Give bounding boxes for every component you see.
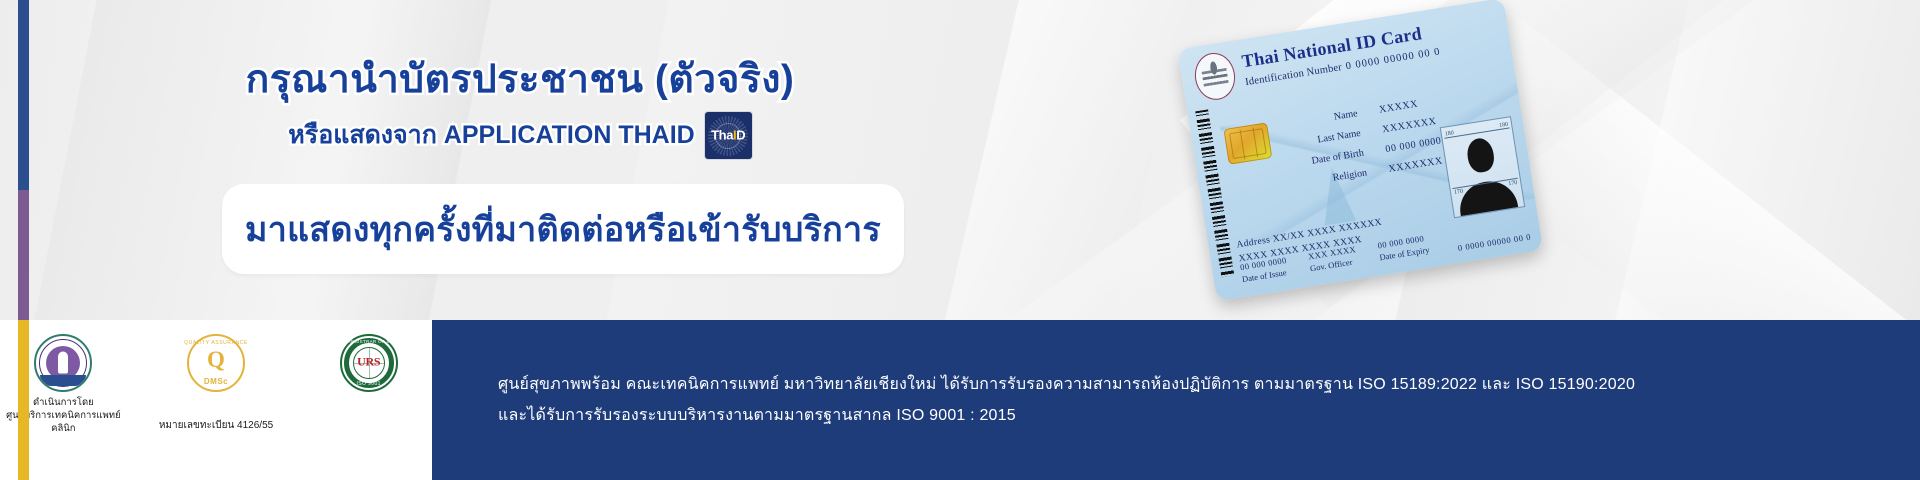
photo-ruler-bottom-right: 170 [1508,180,1518,187]
accent-stripe-blue [18,0,29,190]
promo-banner: กรุณานำบัตรประชาชน (ตัวจริง) หรือแสดงจาก… [0,0,1920,480]
card-serial-number: 0 0000 00000 00 0 [1457,231,1532,252]
page-title: กรุณานำบัตรประชาชน (ตัวจริง) [200,58,840,103]
headline-secondary-row: หรือแสดงจาก APPLICATION THAID ThaID [200,112,840,159]
thai-id-card: Thai National ID Card Identification Num… [1177,0,1544,311]
photo-ruler-bottom-left: 170 [1454,189,1464,196]
medical-technology-emblem-icon [34,334,92,392]
headline-subtitle: หรือแสดงจาก APPLICATION THAID [288,115,694,155]
dmsc-quality-emblem-icon: QUALITY ASSURANCE Q DMSc [187,334,245,392]
logo-item-urs: UNITED REGISTRAR OF SYSTEMS URS ISO 9001 [305,334,432,392]
urs-iso9001-emblem-icon: UNITED REGISTRAR OF SYSTEMS URS ISO 9001 [340,334,398,392]
logo-item-medical-technology: ดำเนินการโดย ศูนย์บริการเทคนิคการแพทย์คล… [0,334,127,435]
certification-line-2: และได้รับการรับรองระบบบริหารงานตามมาตรฐา… [498,403,1920,428]
urs-bottom-text: ISO 9001 [357,381,381,387]
thaid-app-icon[interactable]: ThaID [705,112,752,159]
dmsc-sub-text: DMSc [204,377,228,386]
logo-caption-dmsc: หมายเลขทะเบียน 4126/55 [153,418,280,433]
footer-bar: ดำเนินการโดย ศูนย์บริการเทคนิคการแพทย์คล… [0,320,1920,480]
accent-stripe-purple [18,190,29,322]
callout-box: มาแสดงทุกครั้งที่มาติดต่อหรือเข้ารับบริก… [222,184,904,274]
headline-block: กรุณานำบัตรประชาชน (ตัวจริง) หรือแสดงจาก… [200,58,840,159]
certification-panel: ศูนย์สุขภาพพร้อม คณะเทคนิคการแพทย์ มหาวิ… [432,320,1920,480]
card-portrait-photo: 180 180 170 170 [1440,116,1526,218]
urs-letters: URS [357,354,380,369]
smartcard-chip-icon [1223,122,1272,164]
footer-logos-panel: ดำเนินการโดย ศูนย์บริการเทคนิคการแพทย์คล… [0,320,432,480]
dmsc-top-text: QUALITY ASSURANCE [184,340,248,346]
certification-line-1: ศูนย์สุขภาพพร้อม คณะเทคนิคการแพทย์ มหาวิ… [498,372,1920,397]
garuda-emblem-icon [1192,50,1239,103]
logo-caption-medical-technology: ดำเนินการโดย ศูนย์บริการเทคนิคการแพทย์คล… [0,396,127,435]
card-date-of-expiry: 00 000 0000 Date of Expiry [1377,232,1431,264]
dmsc-q-letter: Q [207,347,225,373]
urs-top-text: UNITED REGISTRAR OF SYSTEMS [327,339,410,344]
logo-item-dmsc: QUALITY ASSURANCE Q DMSc หมายเลขทะเบียน … [153,334,280,433]
thaid-label: ThaID [711,128,745,143]
callout-text: มาแสดงทุกครั้งที่มาติดต่อหรือเข้ารับบริก… [245,202,881,256]
